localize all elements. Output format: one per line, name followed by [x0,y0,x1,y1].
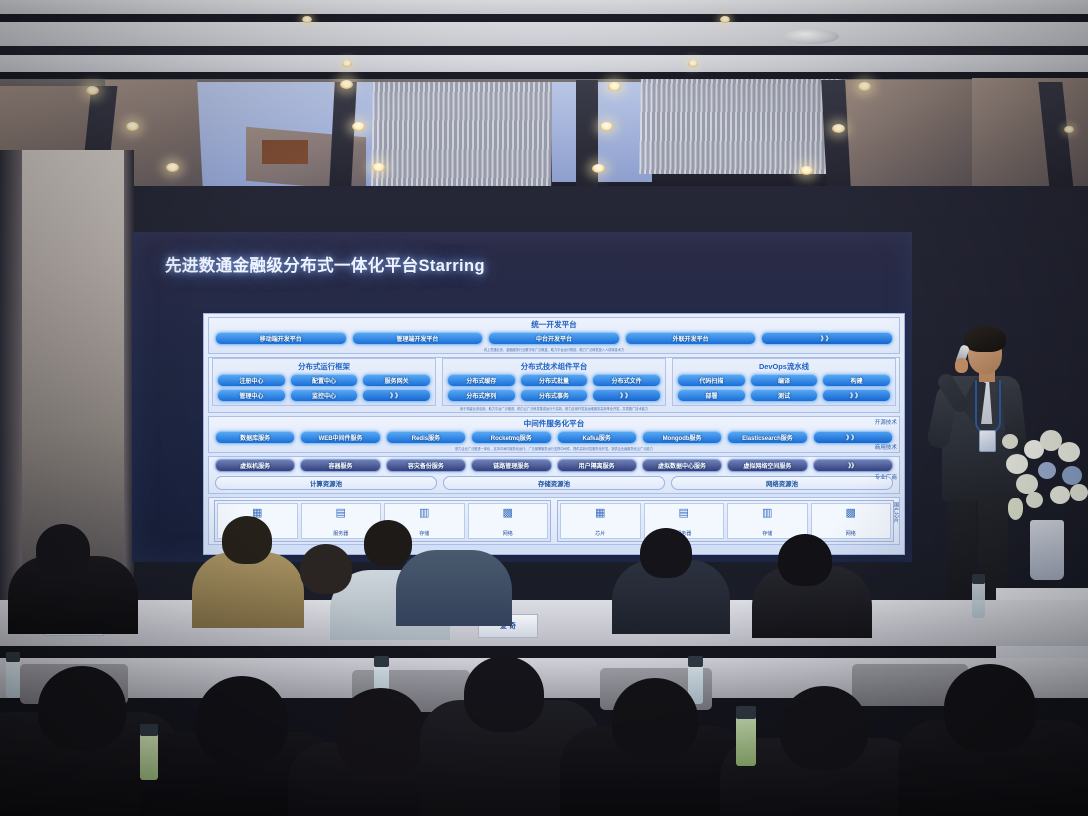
ceiling-spotlight-icon [342,60,352,67]
slide-pill[interactable]: 分布式批量 [520,374,589,387]
row-heading: 中间件服务化平台 [209,417,899,429]
bottle-cap [374,656,389,667]
ceiling-spotlight-icon [832,124,845,133]
ceiling-band [0,22,1088,46]
ceiling-spotlight-icon [86,86,99,95]
ceiling-spotlight-icon [126,122,139,131]
photo-scene: 先进数通金融级分布式一体化平台Starring 统一开发平台 移动端开发平台 管… [0,0,1088,816]
slide-pill[interactable]: 容器服务 [300,459,380,472]
slide-title: 先进数通金融级分布式一体化平台Starring [165,252,765,276]
slide-pill[interactable]: Kafka服务 [557,431,637,444]
hardware-cell-label: 芯片 [561,530,640,537]
bottle-cap [140,724,158,736]
flower [1016,474,1038,494]
hardware-cell-chip[interactable]: ▦ 芯片 [560,503,641,539]
side-label-domestic-chip: 国产芯片 [893,502,900,523]
server-icon: ▤ [645,508,724,519]
network-icon: ▩ [469,508,548,519]
audience-head [196,676,288,766]
ceiling-spotlight-icon [600,122,613,131]
ceiling-band [0,0,1088,14]
audience-head [364,520,412,566]
slide-diagram: 统一开发平台 移动端开发平台 管理端开发平台 中台开发平台 外联开发平台 》》 … [203,313,905,555]
flower-stem [1008,498,1023,520]
slide-pill[interactable]: 用户隔离服务 [557,459,637,472]
slide-pill[interactable]: 测试 [750,389,819,402]
ceiling-slats [371,82,553,188]
speaker-badge [979,430,996,452]
bottle-cap [736,706,756,719]
slide-pill[interactable]: 监控中心 [290,389,359,402]
ceiling [0,0,1088,196]
ceiling-vent-icon [783,29,839,44]
panel-items: 注册中心 配置中心 服务网关 [213,373,435,388]
panel-group: 分布式运行框架 注册中心 配置中心 服务网关 管理中心 监控中心 》》 分布式技… [209,358,899,406]
audience-area: 国 航 爱 奇 [0,560,1088,816]
audience-person [396,550,512,626]
ceiling-spotlight-icon [800,166,813,175]
side-label-open-source: 开源技术 [875,418,897,426]
water-bottle [140,724,158,780]
row-items: 移动端开发平台 管理端开发平台 中台开发平台 外联开发平台 》》 [209,330,899,347]
panel-heading: 分布式运行框架 [213,359,435,373]
panel-heading: 分布式技术组件平台 [443,359,665,373]
ceiling-band [0,46,1088,55]
slide-pill[interactable]: 分布式序列 [447,389,516,402]
ceiling-spotlight-icon [720,16,730,23]
resource-pool-storage[interactable]: 存储资源池 [443,476,665,490]
flower [1070,484,1088,501]
row-items: 虚拟机服务 容器服务 容灾备份服务 链路管理服务 用户隔离服务 虚拟数据中心服务… [209,457,899,474]
audience-head [300,544,352,594]
audience-head [778,534,832,586]
slide-pill[interactable]: 分布式缓存 [447,374,516,387]
slide-more-arrow[interactable]: 》》 [813,459,893,472]
slide-pill[interactable]: 移动端开发平台 [215,332,347,345]
flower [1050,486,1070,504]
speaker-lanyard [975,380,1001,434]
panel-items: 分布式缓存 分布式批量 分布式文件 [443,373,665,388]
hardware-group: ▦ 芯片 ▤ 服务器 ▥ 存储 ▩ 网络 [557,500,894,542]
resource-pools: 计算资源池 存储资源池 网络资源池 [209,474,899,493]
resource-pool-compute[interactable]: 计算资源池 [215,476,437,490]
slide-row-mid-layer: 分布式运行框架 注册中心 配置中心 服务网关 管理中心 监控中心 》》 分布式技… [208,357,900,413]
ceiling-spotlight-icon [166,163,179,172]
ceiling-spotlight-icon [688,60,698,67]
ceiling-spotlight-icon [372,163,385,172]
flower [1058,442,1080,462]
slide-pill[interactable]: 链路管理服务 [471,459,551,472]
slide-more-arrow[interactable]: 》》 [761,332,893,345]
ceiling-band [0,55,1088,72]
storage-icon: ▥ [385,508,464,519]
audience-head [640,528,692,578]
hardware-cell-label: 网络 [469,530,548,537]
speaker-hand [955,358,968,373]
slide-pill[interactable]: 管理端开发平台 [352,332,484,345]
slide-more-arrow[interactable]: 》》 [592,389,661,402]
slide-pill[interactable]: Mongodb服务 [642,431,722,444]
panel-items: 管理中心 监控中心 》》 [213,388,435,403]
water-bottle [736,706,756,766]
chip-icon: ▦ [561,508,640,519]
panel-heading: DevOps流水线 [673,359,895,373]
audience-head [222,516,272,564]
panel-devops-pipeline: DevOps流水线 代码扫描 编译 构建 部署 测试 》》 [672,358,896,406]
ceiling-band [0,14,1088,22]
ceiling-band [0,72,1088,79]
ceiling-spotlight-icon [592,164,605,173]
slide-pill[interactable]: 虚拟网络空间服务 [727,459,807,472]
audience-head [336,688,426,776]
slide-pill[interactable]: 注册中心 [217,374,286,387]
ceiling-recess [262,140,308,164]
panel-items: 部署 测试 》》 [673,388,895,403]
audience-head [780,686,868,770]
ceiling-spotlight-icon [340,80,353,89]
slide-row-unified-dev: 统一开发平台 移动端开发平台 管理端开发平台 中台开发平台 外联开发平台 》》 … [208,317,900,354]
slide-pill[interactable]: 配置中心 [290,374,359,387]
server-icon: ▤ [302,508,381,519]
slide-row-middleware: 中间件服务化平台 数据库服务 WEB中间件服务 Redis服务 Rocketmq… [208,416,900,453]
ceiling-spotlight-icon [302,16,312,23]
row-caption: 向上贯通业务、金融服务行业数字化广泛覆盖，助力平台运行规划，助力广泛研发投入人成… [209,347,899,353]
hardware-cell-network[interactable]: ▩ 网络 [468,503,549,539]
slide-pill[interactable]: 中台开发平台 [488,332,620,345]
slide-row-cloud: 虚拟机服务 容器服务 容灾备份服务 链路管理服务 用户隔离服务 虚拟数据中心服务… [208,456,900,494]
speaker-hair [964,326,1006,352]
ceiling-spotlight-icon [352,122,365,131]
storage-icon: ▥ [728,508,807,519]
row-items: 数据库服务 WEB中间件服务 Redis服务 Rocketmq服务 Kafka服… [209,429,899,446]
bottle-cap [6,652,20,662]
slide-more-arrow[interactable]: 》》 [822,389,891,402]
conference-table [0,600,1088,646]
audience-head [464,656,544,732]
flower-arrangement [1000,420,1088,530]
slide-pill[interactable]: 数据库服务 [215,431,295,444]
audience-head [612,678,698,760]
row-caption: 用于构建业务应用、助力平台广泛推进，助力云广泛研发集成运行于高效，助力应用开发及… [209,406,899,412]
slide-more-arrow[interactable]: 》》 [362,389,431,402]
side-label-vendor: 专业厂商 [875,473,897,481]
ceiling-spotlight-icon [858,82,871,91]
slide-pill[interactable]: 构建 [822,374,891,387]
audience-head [38,666,126,750]
audience-head [944,664,1036,752]
slide-pill[interactable]: 虚拟机服务 [215,459,295,472]
slide-pill[interactable]: 服务网关 [362,374,431,387]
hardware-cell-network[interactable]: ▩ 网络 [811,503,892,539]
wall-pillar [0,150,22,620]
slide-pill[interactable]: 分布式事务 [520,389,589,402]
hardware-cell-storage[interactable]: ▥ 存储 [727,503,808,539]
audience-head [36,524,90,576]
slide-pill[interactable]: 分布式文件 [592,374,661,387]
bottle-cap [972,574,985,584]
ceiling-spotlight-icon [1064,126,1074,133]
slide-pill[interactable]: 编译 [750,374,819,387]
slide-pill[interactable]: 外联开发平台 [625,332,757,345]
ceiling-wood-panel [836,80,986,188]
slide-pill[interactable]: 管理中心 [217,389,286,402]
flower [1026,492,1043,508]
flower [1002,434,1018,449]
water-bottle [6,652,20,698]
panel-distributed-runtime: 分布式运行框架 注册中心 配置中心 服务网关 管理中心 监控中心 》》 [212,358,436,406]
slide-pill[interactable]: Redis服务 [386,431,466,444]
resource-pool-network[interactable]: 网络资源池 [671,476,893,490]
side-label-commercial: 商用技术 [875,443,897,451]
panel-tech-components: 分布式技术组件平台 分布式缓存 分布式批量 分布式文件 分布式序列 分布式事务 … [442,358,666,406]
ceiling-slats [639,79,841,174]
panel-items: 代码扫描 编译 构建 [673,373,895,388]
slide-pill[interactable]: 部署 [677,389,746,402]
row-caption: 助力企业广泛推进一体化，支持中间件服务化运行，广泛部署服务运行支撑中间件，提供高… [209,446,899,452]
flower-blue [1062,466,1082,485]
flower [1006,454,1028,474]
slide-pill[interactable]: Rocketmq服务 [471,431,551,444]
slide-pill[interactable]: 容灾备份服务 [386,459,466,472]
bottle-cap [688,656,703,667]
slide-pill[interactable]: 虚拟数据中心服务 [642,459,722,472]
row-heading: 统一开发平台 [209,318,899,330]
water-bottle [972,574,985,618]
slide-pill[interactable]: WEB中间件服务 [300,431,380,444]
network-icon: ▩ [812,508,891,519]
slide-pill[interactable]: Elasticsearch服务 [727,431,807,444]
panel-items: 分布式序列 分布式事务 》》 [443,388,665,403]
ceiling-spotlight-icon [608,82,621,91]
hardware-cell-label: 网络 [812,530,891,537]
slide-pill[interactable]: 代码扫描 [677,374,746,387]
flower-blue [1038,462,1056,479]
